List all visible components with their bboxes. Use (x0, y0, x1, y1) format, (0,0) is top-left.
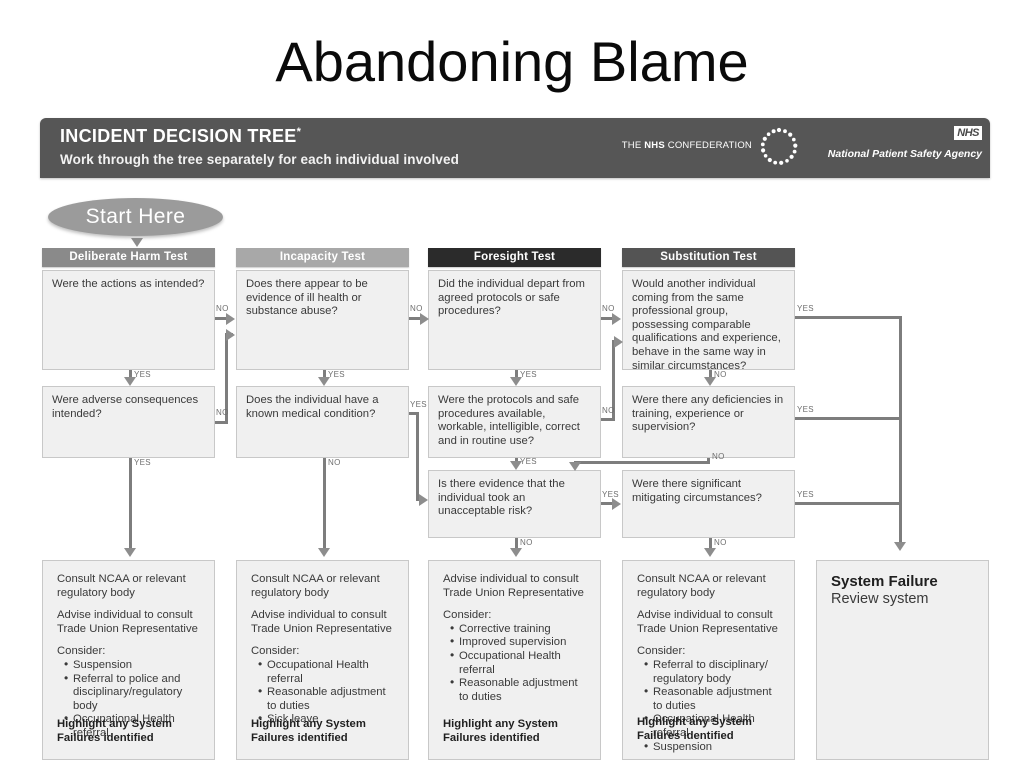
list-item: Occupational Health referral (452, 650, 590, 677)
poster-header-band: INCIDENT DECISION TREE* Work through the… (40, 118, 990, 178)
edge-label-q7-no: NO (520, 538, 533, 547)
outcome-1-line2: Advise individual to consult Trade Union… (251, 609, 398, 636)
outcome-incapacity: Consult NCAA or relevant regulatory body… (236, 560, 409, 760)
arrow-q1-no (226, 313, 235, 325)
list-item: Corrective training (452, 623, 590, 637)
node-q6-protocols-available-workable: Were the protocols and safe procedures a… (428, 386, 601, 458)
outcome-3-highlight: Highlight any System Failures identified (637, 715, 794, 743)
outcome-2-line2: Advise individual to consult Trade Union… (443, 573, 590, 600)
list-item: Referral to police and disciplinary/regu… (66, 673, 204, 714)
arrow-q6-no (614, 336, 623, 348)
list-item: Suspension (66, 659, 204, 673)
list-item: Referral to disciplinary/ regulatory bod… (646, 659, 784, 686)
edge-label-q9-no: NO (712, 452, 725, 461)
outcome-foresight: Advise individual to consult Trade Union… (428, 560, 601, 760)
edge-label-q1-no: NO (216, 304, 229, 313)
list-item: Reasonable adjustment to duties (646, 686, 784, 713)
node-q3-evidence-ill-health: Does there appear to be evidence of ill … (236, 270, 409, 370)
edge-right-rail (899, 316, 902, 544)
arrow-q5-no (612, 313, 621, 325)
column-header-foresight: Foresight Test (428, 248, 601, 267)
arrow-start-to-q1 (131, 238, 143, 247)
list-item: Reasonable adjustment to duties (260, 686, 398, 713)
edge-label-q3-yes: YES (328, 370, 345, 379)
outcome-0-consider-label: Consider: (57, 645, 204, 659)
start-here-badge: Start Here (48, 198, 223, 236)
node-q1-were-actions-intended: Were the actions as intended? (42, 270, 215, 370)
edge-label-q4-no: NO (328, 458, 341, 467)
poster-title: INCIDENT DECISION TREE* (60, 126, 301, 147)
system-failure-subtitle: Review system (831, 591, 978, 608)
list-item: Occupational Health referral (260, 659, 398, 686)
outcome-2-consider-list: Corrective training Improved supervision… (443, 623, 590, 705)
column-header-deliberate-harm: Deliberate Harm Test (42, 248, 215, 267)
edge-label-q4-yes: YES (410, 400, 427, 409)
edge-q2-yes (129, 458, 132, 551)
outcome-0-line1: Consult NCAA or relevant regulatory body (57, 573, 204, 600)
node-q4-known-medical-condition: Does the individual have a known medical… (236, 386, 409, 458)
node-q7-unacceptable-risk: Is there evidence that the individual to… (428, 470, 601, 538)
nhs-confederation-text: THE NHS CONFEDERATION (622, 140, 752, 151)
node-q10-text: Were there significant mitigating circum… (632, 478, 786, 505)
arrow-q4-no (318, 548, 330, 557)
node-q10-mitigating-circumstances: Were there significant mitigating circum… (622, 470, 795, 538)
edge-label-q9-yes: YES (797, 405, 814, 414)
node-q8-would-another-individual: Would another individual coming from the… (622, 270, 795, 370)
edge-label-q2-yes: YES (134, 458, 151, 467)
outcome-2-highlight: Highlight any System Failures identified (443, 717, 600, 745)
edge-label-q10-yes: YES (797, 490, 814, 499)
outcome-0-highlight: Highlight any System Failures identified (57, 717, 214, 745)
system-failure-title: System Failure (831, 573, 978, 591)
edge-q4-yes-v (416, 412, 419, 501)
outcome-substitution: Consult NCAA or relevant regulatory body… (622, 560, 795, 760)
list-item: Reasonable adjustment to duties (452, 677, 590, 704)
outcome-2-consider-label: Consider: (443, 609, 590, 623)
arrow-q2-no (226, 329, 235, 341)
outcome-1-consider-label: Consider: (251, 645, 398, 659)
outcome-system-failure: System Failure Review system (816, 560, 989, 760)
node-q2-adverse-consequences-intended: Were adverse consequences intended? (42, 386, 215, 458)
outcome-3-line2: Advise individual to consult Trade Union… (637, 609, 784, 636)
edge-label-q8-yes: YES (797, 304, 814, 313)
edge-label-q5-yes: YES (520, 370, 537, 379)
column-header-incapacity: Incapacity Test (236, 248, 409, 267)
arrow-q3-no (420, 313, 429, 325)
node-q2-text: Were adverse consequences intended? (52, 394, 206, 421)
node-q3-text: Does there appear to be evidence of ill … (246, 278, 400, 319)
outcome-1-line1: Consult NCAA or relevant regulatory body (251, 573, 398, 600)
edge-label-q3-no: NO (410, 304, 423, 313)
poster-title-asterisk: * (297, 126, 302, 138)
arrow-q2-yes (124, 548, 136, 557)
edge-label-q7-yes: YES (602, 490, 619, 499)
node-q8-text: Would another individual coming from the… (632, 278, 786, 373)
arrow-q7-yes (612, 498, 621, 510)
outcome-deliberate-harm: Consult NCAA or relevant regulatory body… (42, 560, 215, 760)
page-title: Abandoning Blame (0, 30, 1024, 94)
edge-q9-no-h (574, 461, 710, 464)
arrow-system-failure (894, 542, 906, 551)
node-q9-text: Were there any deficiencies in training,… (632, 394, 786, 435)
start-here-label: Start Here (48, 198, 223, 236)
dot-ring-icon (758, 126, 800, 168)
poster-subtitle: Work through the tree separately for eac… (60, 152, 459, 167)
node-q6-text: Were the protocols and safe procedures a… (438, 394, 592, 448)
arrow-q7-no (510, 548, 522, 557)
node-q7-text: Is there evidence that the individual to… (438, 478, 592, 519)
edge-label-q6-yes: YES (520, 457, 537, 466)
outcome-0-line2: Advise individual to consult Trade Union… (57, 609, 204, 636)
node-q4-text: Does the individual have a known medical… (246, 394, 400, 421)
outcome-1-highlight: Highlight any System Failures identified (251, 717, 408, 745)
node-q5-depart-from-protocols: Did the individual depart from agreed pr… (428, 270, 601, 370)
incident-decision-tree-poster: INCIDENT DECISION TREE* Work through the… (40, 118, 990, 763)
nhs-logo: NHS (954, 126, 982, 140)
list-item: Improved supervision (452, 636, 590, 650)
arrow-q10-no (704, 548, 716, 557)
edge-q9-yes-h (795, 417, 902, 420)
node-q5-text: Did the individual depart from agreed pr… (438, 278, 592, 319)
edge-label-q6-no: NO (602, 406, 615, 415)
edge-label-q10-no: NO (714, 538, 727, 547)
edge-label-q1-yes: YES (134, 370, 151, 379)
edge-q8-yes-h (795, 316, 902, 319)
arrow-q4-yes (419, 494, 428, 506)
edge-label-q5-no: NO (602, 304, 615, 313)
npsa-label: National Patient Safety Agency (828, 148, 982, 160)
column-header-substitution: Substitution Test (622, 248, 795, 267)
outcome-3-line1: Consult NCAA or relevant regulatory body (637, 573, 784, 600)
outcome-3-consider-label: Consider: (637, 645, 784, 659)
node-q9-deficiencies-in-training: Were there any deficiencies in training,… (622, 386, 795, 458)
edge-label-q8-no: NO (714, 370, 727, 379)
edge-q4-no (323, 458, 326, 551)
arrow-q9-no (569, 462, 581, 471)
edge-q10-yes-h (795, 502, 902, 505)
node-q1-text: Were the actions as intended? (52, 278, 206, 292)
edge-label-q2-no: NO (216, 408, 229, 417)
